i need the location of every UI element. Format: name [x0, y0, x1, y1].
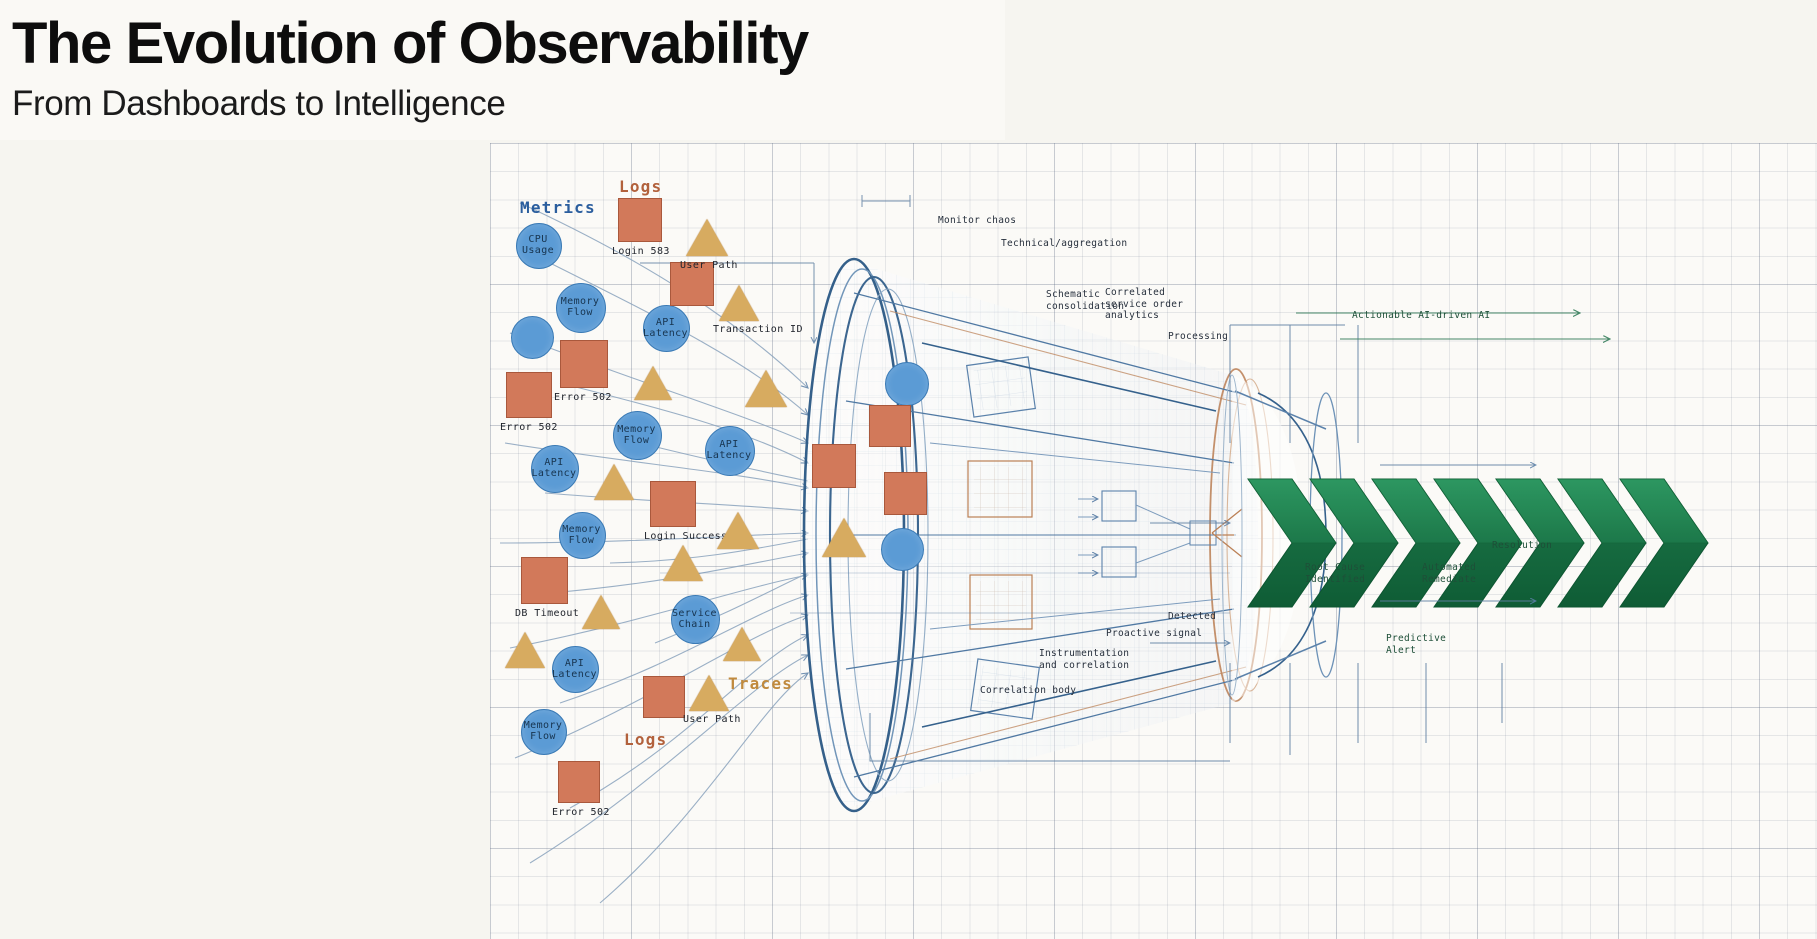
signal-node-triangle	[582, 592, 620, 629]
signal-node-circle: ServiceChain	[671, 595, 720, 644]
signal-node-inner-label: CPUUsage	[516, 234, 560, 256]
metric-circle	[885, 362, 929, 406]
signal-node-circle: CPUUsage	[516, 223, 562, 269]
trace-triangle	[717, 509, 759, 549]
trace-triangle	[822, 515, 866, 557]
metric-circle	[511, 316, 554, 359]
trace-triangle	[505, 629, 545, 668]
signal-node-triangle: Transaction ID	[719, 282, 759, 321]
log-square	[558, 761, 600, 803]
signal-node-inner-label: APILatency	[705, 439, 753, 461]
log-square	[560, 340, 608, 388]
funnel-callout-8: Correlation body	[980, 685, 1076, 697]
signal-node-caption: Login 583	[612, 246, 670, 257]
signal-node-circle	[511, 316, 554, 359]
signal-node-circle: MemoryFlow	[559, 512, 606, 559]
signal-node-circle: MemoryFlow	[556, 283, 606, 333]
metric-circle	[881, 528, 924, 571]
log-square	[618, 198, 662, 242]
trace-triangle	[582, 592, 620, 629]
funnel-callout-9: Detected	[1168, 611, 1216, 623]
signal-node-square: Error 502	[506, 372, 552, 418]
title-block: The Evolution of Observability From Dash…	[0, 0, 1005, 140]
signal-node-circle	[885, 362, 929, 406]
group-label-logs: Logs	[619, 177, 662, 196]
signal-node-triangle: User Path	[686, 216, 728, 256]
signal-node-circle: APILatency	[643, 305, 690, 352]
trace-triangle	[594, 461, 634, 500]
signal-node-inner-label: APILatency	[531, 457, 577, 479]
outcome-callout-4: Resolution	[1492, 540, 1552, 552]
signal-node-triangle	[663, 542, 703, 581]
trace-triangle	[723, 624, 761, 661]
signal-node-inner-label: ServiceChain	[671, 608, 718, 630]
trace-triangle	[719, 282, 759, 321]
signal-node-inner-label: MemoryFlow	[556, 296, 604, 318]
trace-triangle	[634, 363, 672, 400]
signal-node-inner-label: APILatency	[552, 658, 597, 680]
signal-node-square	[812, 444, 856, 488]
signal-node-inner-label: MemoryFlow	[613, 424, 660, 446]
signal-node-inner-label: APILatency	[643, 317, 688, 339]
trace-triangle	[686, 216, 728, 256]
outcome-callout-5: Predictive Alert	[1386, 633, 1446, 656]
log-square	[869, 405, 911, 447]
signal-node-caption: Error 502	[500, 422, 558, 433]
signal-node-caption: Error 502	[552, 807, 610, 818]
signal-node-square: Login 583	[618, 198, 662, 242]
signal-node-caption: User Path	[680, 260, 738, 271]
grid-paper-canvas: CPUUsageMemoryFlowAPILatencyMemoryFlowAP…	[490, 143, 1817, 939]
page-title: The Evolution of Observability	[12, 10, 808, 77]
signal-node-square	[884, 472, 927, 515]
signal-node-inner-label: MemoryFlow	[559, 524, 604, 546]
trace-triangle	[689, 672, 729, 711]
signal-node-circle: MemoryFlow	[521, 709, 567, 755]
signal-node-square	[643, 676, 685, 718]
outcome-callout-3: Automated Remediate	[1422, 562, 1476, 585]
group-label-metrics: Metrics	[520, 198, 596, 217]
signal-node-triangle	[505, 629, 545, 668]
trace-triangle	[745, 367, 787, 407]
signal-node-caption: Login Success	[644, 531, 727, 542]
log-square	[884, 472, 927, 515]
log-square	[506, 372, 552, 418]
signal-node-inner-label: MemoryFlow	[521, 720, 565, 742]
group-label-logs: Logs	[624, 730, 667, 749]
signal-node-square: Login Success	[650, 481, 696, 527]
signal-node-caption: Transaction ID	[713, 324, 803, 335]
signal-node-triangle	[594, 461, 634, 500]
signal-node-square	[869, 405, 911, 447]
signal-node-triangle: User Path	[689, 672, 729, 711]
group-label-traces: Traces	[728, 674, 793, 693]
signal-node-caption: User Path	[683, 714, 741, 725]
funnel-callout-1: Monitor chaos	[938, 215, 1016, 227]
page-subtitle: From Dashboards to Intelligence	[12, 84, 505, 124]
signal-node-square: Error 502	[558, 761, 600, 803]
funnel-callout-7: Proactive signal	[1106, 628, 1202, 640]
signal-node-square: Error 502	[560, 340, 608, 388]
resolution-chevrons	[1248, 479, 1708, 607]
signal-node-triangle	[634, 363, 672, 400]
log-square	[521, 557, 568, 604]
log-square	[650, 481, 696, 527]
signal-node-circle	[881, 528, 924, 571]
signal-node-triangle	[822, 515, 866, 557]
log-square	[643, 676, 685, 718]
signal-node-caption: Error 502	[554, 392, 612, 403]
signal-node-circle: APILatency	[552, 646, 599, 693]
trace-triangle	[663, 542, 703, 581]
funnel-callout-4: Correlated service order analytics	[1105, 287, 1183, 322]
log-square	[812, 444, 856, 488]
signal-node-triangle	[717, 509, 759, 549]
signal-node-circle: APILatency	[705, 426, 755, 476]
funnel-callout-6: Instrumentation and correlation	[1039, 648, 1129, 671]
funnel-callout-2: Technical/aggregation	[1001, 238, 1127, 250]
signal-node-circle: APILatency	[531, 445, 579, 493]
signal-node-circle: MemoryFlow	[613, 411, 662, 460]
signal-node-triangle	[745, 367, 787, 407]
signal-node-caption: DB Timeout	[515, 608, 579, 619]
outcome-callout-1: Actionable AI-driven AI	[1352, 310, 1490, 322]
signal-node-square: DB Timeout	[521, 557, 568, 604]
outcome-callout-2: Root Cause Identified	[1305, 562, 1365, 585]
funnel-callout-5: Processing	[1168, 331, 1228, 343]
signal-node-triangle	[723, 624, 761, 661]
diagram-canvas: CPUUsageMemoryFlowAPILatencyMemoryFlowAP…	[0, 0, 1817, 939]
